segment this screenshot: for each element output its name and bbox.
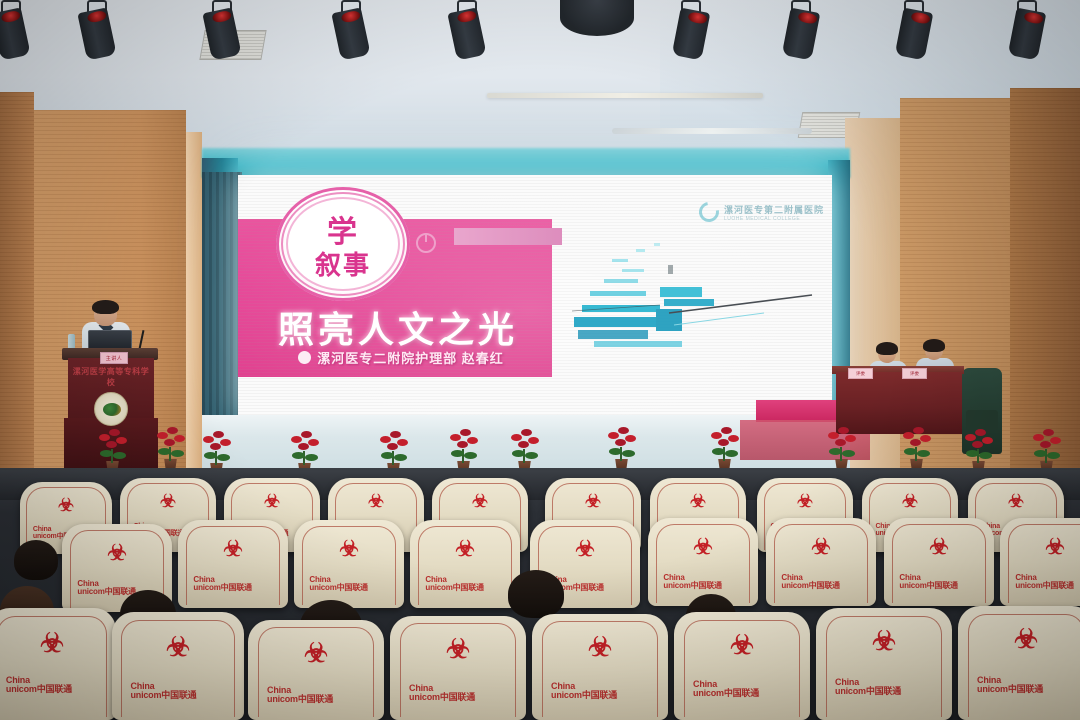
china-unicom-logo: ☣ [472,492,488,510]
podium-plaque-text: 主讲人 [101,353,127,363]
china-unicom-logo: ☣ [304,640,328,667]
china-unicom-logo: ☣ [730,632,754,659]
audience-chair: ☣ Chinaunicom中国联通 [248,620,384,720]
chair-brand-text: Chinaunicom中国联通 [309,576,388,593]
poinsettia-plant [605,424,639,472]
speaker-hair [92,300,119,314]
audience-chair: ☣ Chinaunicom中国联通 [112,612,244,720]
china-unicom-logo: ☣ [575,538,595,560]
china-unicom-logo: ☣ [690,492,706,510]
chair-brand-text: Chinaunicom中国联通 [899,574,978,591]
chair-brand-text: Chinaunicom中国联通 [425,576,504,593]
audience-chair: ☣ Chinaunicom中国联通 [294,520,404,608]
poinsettia-plant [708,424,742,472]
audience-chair: ☣ Chinaunicom中国联通 [648,518,758,606]
conference-hall-photo: 学 叙事 漯河医专第二附属医院 LUOHE MEDICAL COLLEGE [0,0,1080,720]
chair-brand-text: Chinaunicom中国联通 [193,576,272,593]
china-unicom-logo: ☣ [1045,536,1065,558]
screen-valance-top [202,148,850,178]
china-unicom-logo: ☣ [1014,626,1038,653]
ceiling-light-slot [487,93,763,98]
poinsettia-plant [508,426,542,474]
audience-head [14,540,58,580]
audience-chair: ☣ Chinaunicom中国联通 [532,614,668,720]
slide-main-title: 照亮人文之光 [248,301,548,353]
china-unicom-logo: ☣ [929,536,949,558]
chair-brand-text: Chinaunicom中国联通 [781,574,860,591]
seal-bottom-chars: 叙事 [276,245,410,282]
audience-chair: ☣ Chinaunicom中国联通 [178,520,288,608]
china-unicom-logo: ☣ [797,492,813,510]
hospital-logo: 漯河医专第二附属医院 LUOHE MEDICAL COLLEGE [699,202,824,222]
china-unicom-logo: ☣ [588,634,612,661]
hospital-name-sub: LUOHE MEDICAL COLLEGE [724,216,824,222]
audience-chair: ☣ Chinaunicom中国联通 [816,608,952,720]
audience-chair: ☣ Chinaunicom中国联通 [390,616,526,720]
slide-accent-bar [454,228,562,245]
audience-chair: ☣ Chinaunicom中国联通 [884,518,994,606]
china-unicom-logo: ☣ [58,496,74,514]
china-unicom-logo: ☣ [872,628,896,655]
chair-brand-text: Chinaunicom中国联通 [663,574,742,591]
poinsettia-plant [962,426,996,474]
hospital-mark-icon [695,198,723,226]
podium-plaque: 主讲人 [100,352,128,364]
china-unicom-logo: ☣ [455,538,475,560]
poinsettia-plant [154,424,188,472]
judge-placard-text: 评委 [849,369,872,378]
china-unicom-logo: ☣ [585,492,601,510]
chair-brand-text: Chinaunicom中国联通 [693,680,791,699]
audience-chair: ☣ Chinaunicom中国联通 [766,518,876,606]
stage-drape [202,172,242,447]
slide-subtitle-row: 漯河医专二附院护理部 赵春红 [256,348,546,367]
china-unicom-logo: ☣ [902,492,918,510]
hospital-name: 漯河医专第二附属医院 [724,203,824,216]
ceiling-light-strip [612,128,812,134]
chair-brand-text: Chinaunicom中国联通 [835,678,933,697]
poinsettia-plant [96,426,130,474]
audience-chair: ☣ Chinaunicom中国联通 [1000,518,1080,606]
china-unicom-logo: ☣ [1008,492,1024,510]
china-unicom-logo: ☣ [811,536,831,558]
chair-brand-text: Chinaunicom中国联通 [551,682,649,701]
audience-chair: ☣ Chinaunicom中国联通 [674,612,810,720]
judge-name-placard: 评委 [902,368,927,379]
audience-chair: ☣ Chinaunicom中国联通 [0,608,116,720]
left-wall-far [0,92,34,522]
audience-head [508,570,564,618]
chair-brand-text: Chinaunicom中国联通 [409,684,507,703]
china-unicom-logo: ☣ [446,636,470,663]
projection-screen: 学 叙事 漯河医专第二附属医院 LUOHE MEDICAL COLLEGE [238,175,832,417]
school-emblem-icon [94,392,128,426]
chair-brand-text: Chinaunicom中国联通 [130,682,225,701]
china-unicom-logo: ☣ [166,634,190,661]
podium-front-text: 漯河医学高等专科学校 [70,366,152,388]
china-unicom-logo: ☣ [40,630,64,657]
chair-brand-text: Chinaunicom中国联通 [6,676,98,695]
subtitle-bullet-icon [298,351,311,364]
china-unicom-logo: ☣ [264,492,280,510]
abstract-teal-artwork [564,235,814,375]
china-unicom-logo: ☣ [368,492,384,510]
china-unicom-logo: ☣ [339,538,359,560]
audience-chair: ☣ Chinaunicom中国联通 [958,606,1080,720]
chair-brand-text: Chinaunicom中国联通 [267,686,365,705]
slide-seal-emblem: 学 叙事 [276,187,410,301]
chair-brand-text: Chinaunicom中国联通 [977,676,1075,695]
china-unicom-logo: ☣ [693,536,713,558]
power-icon [416,233,436,253]
china-unicom-logo: ☣ [107,542,127,564]
audience-chair: ☣ Chinaunicom中国联通 [410,520,520,608]
poinsettia-plant [447,426,481,474]
judge-name-placard: 评委 [848,368,873,379]
chair-brand-text: Chinaunicom中国联通 [1015,574,1080,591]
slide-subtitle-text: 漯河医专二附院护理部 赵春红 [317,348,504,367]
china-unicom-logo: ☣ [160,492,176,510]
china-unicom-logo: ☣ [223,538,243,560]
poinsettia-plant [900,424,934,472]
poinsettia-plant [1030,426,1064,474]
poinsettia-plant [825,424,859,472]
judge-placard-text: 评委 [903,369,926,378]
